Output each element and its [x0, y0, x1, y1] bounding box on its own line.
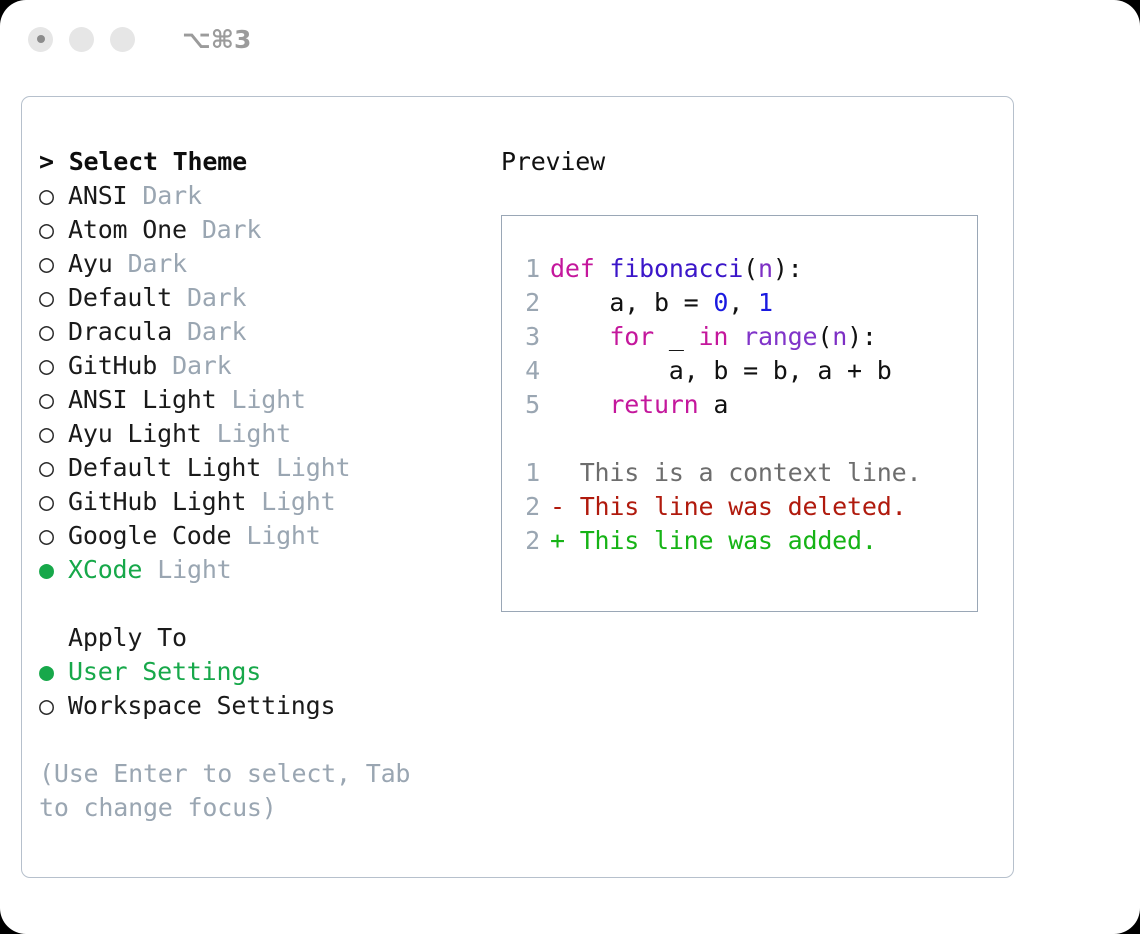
theme-option-tag: Dark	[187, 281, 246, 315]
code-line: 1def fibonacci(n):	[502, 252, 977, 286]
apply-to-option-user-settings[interactable]: ●User Settings	[39, 655, 489, 689]
preview-box: 1def fibonacci(n):2 a, b = 0, 13 for _ i…	[501, 215, 978, 612]
diff-sign: -	[550, 490, 565, 524]
code-token-punct: ):	[847, 322, 877, 351]
theme-list[interactable]: ○ANSIDark○Atom OneDark○AyuDark○DefaultDa…	[39, 179, 489, 587]
section-spacer	[39, 587, 489, 621]
code-line-number: 3	[502, 320, 550, 354]
window-control-maximize[interactable]	[110, 27, 135, 52]
theme-option-default[interactable]: ○DefaultDark	[39, 281, 489, 315]
radio-unselected-icon: ○	[39, 349, 68, 383]
code-line: 3 for _ in range(n):	[502, 320, 977, 354]
theme-option-label: XCode	[68, 553, 142, 587]
select-theme-heading: > Select Theme	[39, 145, 489, 179]
theme-option-atom-one[interactable]: ○Atom OneDark	[39, 213, 489, 247]
theme-option-label: ANSI Light	[68, 383, 217, 417]
code-token-kw: for	[609, 322, 654, 351]
code-token-plain	[550, 322, 609, 351]
theme-option-tag: Light	[246, 519, 320, 553]
radio-selected-icon: ●	[39, 655, 68, 689]
theme-option-default-light[interactable]: ○Default LightLight	[39, 451, 489, 485]
code-line-content: for _ in range(n):	[550, 320, 877, 354]
code-token-param: n	[758, 254, 773, 283]
theme-option-dracula[interactable]: ○DraculaDark	[39, 315, 489, 349]
theme-option-xcode[interactable]: ●XCodeLight	[39, 553, 489, 587]
code-line-number: 5	[502, 388, 550, 422]
code-token-plain	[595, 254, 610, 283]
theme-option-label: Google Code	[68, 519, 231, 553]
code-line-content: a, b = 0, 1	[550, 286, 773, 320]
title-bar: ⌥⌘3	[0, 0, 1140, 78]
theme-option-tag: Light	[276, 451, 350, 485]
code-token-punct: (	[743, 254, 758, 283]
code-token-num: 1	[758, 288, 773, 317]
diff-line-text: This is a context line.	[565, 456, 921, 490]
theme-option-tag: Light	[232, 383, 306, 417]
diff-sign	[550, 456, 565, 490]
apply-to-heading: Apply To	[39, 621, 489, 655]
code-line-number: 1	[502, 252, 550, 286]
code-line-number: 4	[502, 354, 550, 388]
theme-option-tag: Light	[261, 485, 335, 519]
code-token-builtin: range	[743, 322, 817, 351]
code-token-plain: a, b = b, a + b	[550, 356, 892, 385]
preview-gap	[502, 422, 977, 456]
code-line: 2 a, b = 0, 1	[502, 286, 977, 320]
code-token-plain: ,	[728, 288, 758, 317]
diff-sign: +	[550, 524, 565, 558]
code-token-plain: a, b =	[550, 288, 713, 317]
theme-option-ayu-light[interactable]: ○Ayu LightLight	[39, 417, 489, 451]
radio-unselected-icon: ○	[39, 417, 68, 451]
theme-option-tag: Dark	[172, 349, 231, 383]
window-control-minimize[interactable]	[69, 27, 94, 52]
code-token-plain: a	[699, 390, 729, 419]
apply-to-option-workspace-settings[interactable]: ○Workspace Settings	[39, 689, 489, 723]
radio-unselected-icon: ○	[39, 383, 68, 417]
radio-unselected-icon: ○	[39, 281, 68, 315]
theme-option-google-code[interactable]: ○Google CodeLight	[39, 519, 489, 553]
diff-line-number: 1	[502, 456, 550, 490]
theme-option-label: Default Light	[68, 451, 261, 485]
code-token-fn: fibonacci	[609, 254, 743, 283]
window-control-close[interactable]	[28, 27, 53, 52]
preview-column: Preview 1def fibonacci(n):2 a, b = 0, 13…	[501, 145, 1001, 612]
code-token-punct: (	[817, 322, 832, 351]
code-line: 5 return a	[502, 388, 977, 422]
theme-option-github-light[interactable]: ○GitHub LightLight	[39, 485, 489, 519]
code-line-content: def fibonacci(n):	[550, 252, 803, 286]
theme-option-label: GitHub	[68, 349, 157, 383]
diff-line-number: 2	[502, 490, 550, 524]
diff-line-ctx: 1 This is a context line.	[502, 456, 977, 490]
code-token-plain	[728, 322, 743, 351]
theme-option-tag: Dark	[187, 315, 246, 349]
apply-to-option-label: Workspace Settings	[68, 689, 335, 723]
code-token-punct: ):	[773, 254, 803, 283]
theme-option-tag: Dark	[202, 213, 261, 247]
radio-unselected-icon: ○	[39, 451, 68, 485]
code-line-content: return a	[550, 388, 728, 422]
code-token-kw: return	[609, 390, 698, 419]
radio-unselected-icon: ○	[39, 485, 68, 519]
theme-option-label: Default	[68, 281, 172, 315]
radio-unselected-icon: ○	[39, 315, 68, 349]
radio-unselected-icon: ○	[39, 247, 68, 281]
theme-option-label: ANSI	[68, 179, 127, 213]
theme-option-ayu[interactable]: ○AyuDark	[39, 247, 489, 281]
keyboard-shortcut-label: ⌥⌘3	[182, 25, 251, 54]
preview-heading: Preview	[501, 145, 1001, 179]
diff-line-number: 2	[502, 524, 550, 558]
radio-unselected-icon: ○	[39, 519, 68, 553]
code-sample: 1def fibonacci(n):2 a, b = 0, 13 for _ i…	[502, 252, 977, 422]
code-token-num: 0	[713, 288, 728, 317]
radio-unselected-icon: ○	[39, 179, 68, 213]
code-line: 4 a, b = b, a + b	[502, 354, 977, 388]
dialog-panel: > Select Theme ○ANSIDark○Atom OneDark○Ay…	[21, 96, 1014, 878]
theme-option-label: Ayu	[68, 247, 113, 281]
theme-selection-column: > Select Theme ○ANSIDark○Atom OneDark○Ay…	[39, 145, 489, 825]
code-token-param: n	[832, 322, 847, 351]
diff-line-text: This line was added.	[565, 524, 877, 558]
diff-sample: 1 This is a context line.2- This line wa…	[502, 456, 977, 558]
theme-option-github[interactable]: ○GitHubDark	[39, 349, 489, 383]
apply-to-list[interactable]: ●User Settings○Workspace Settings	[39, 655, 489, 723]
code-token-plain	[550, 390, 609, 419]
theme-option-tag: Light	[157, 553, 231, 587]
apply-to-option-label: User Settings	[68, 655, 261, 689]
theme-option-ansi[interactable]: ○ANSIDark	[39, 179, 489, 213]
code-token-kw: in	[699, 322, 729, 351]
theme-option-label: GitHub Light	[68, 485, 246, 519]
theme-option-ansi-light[interactable]: ○ANSI LightLight	[39, 383, 489, 417]
radio-unselected-icon: ○	[39, 213, 68, 247]
code-token-plain: _	[654, 322, 699, 351]
theme-option-tag: Dark	[128, 247, 187, 281]
theme-option-tag: Light	[217, 417, 291, 451]
theme-option-label: Atom One	[68, 213, 187, 247]
diff-line-add: 2+ This line was added.	[502, 524, 977, 558]
radio-selected-icon: ●	[39, 553, 68, 587]
diff-line-text: This line was deleted.	[565, 490, 907, 524]
radio-unselected-icon: ○	[39, 689, 68, 723]
diff-line-del: 2- This line was deleted.	[502, 490, 977, 524]
theme-option-label: Ayu Light	[68, 417, 202, 451]
code-line-content: a, b = b, a + b	[550, 354, 892, 388]
keyboard-hint-text: (Use Enter to select, Tab to change focu…	[39, 757, 449, 825]
theme-option-tag: Dark	[142, 179, 201, 213]
code-line-number: 2	[502, 286, 550, 320]
app-window: ⌥⌘3 > Select Theme ○ANSIDark○Atom OneDar…	[0, 0, 1140, 934]
code-token-kw: def	[550, 254, 595, 283]
active-indicator-dot	[37, 35, 45, 43]
theme-option-label: Dracula	[68, 315, 172, 349]
